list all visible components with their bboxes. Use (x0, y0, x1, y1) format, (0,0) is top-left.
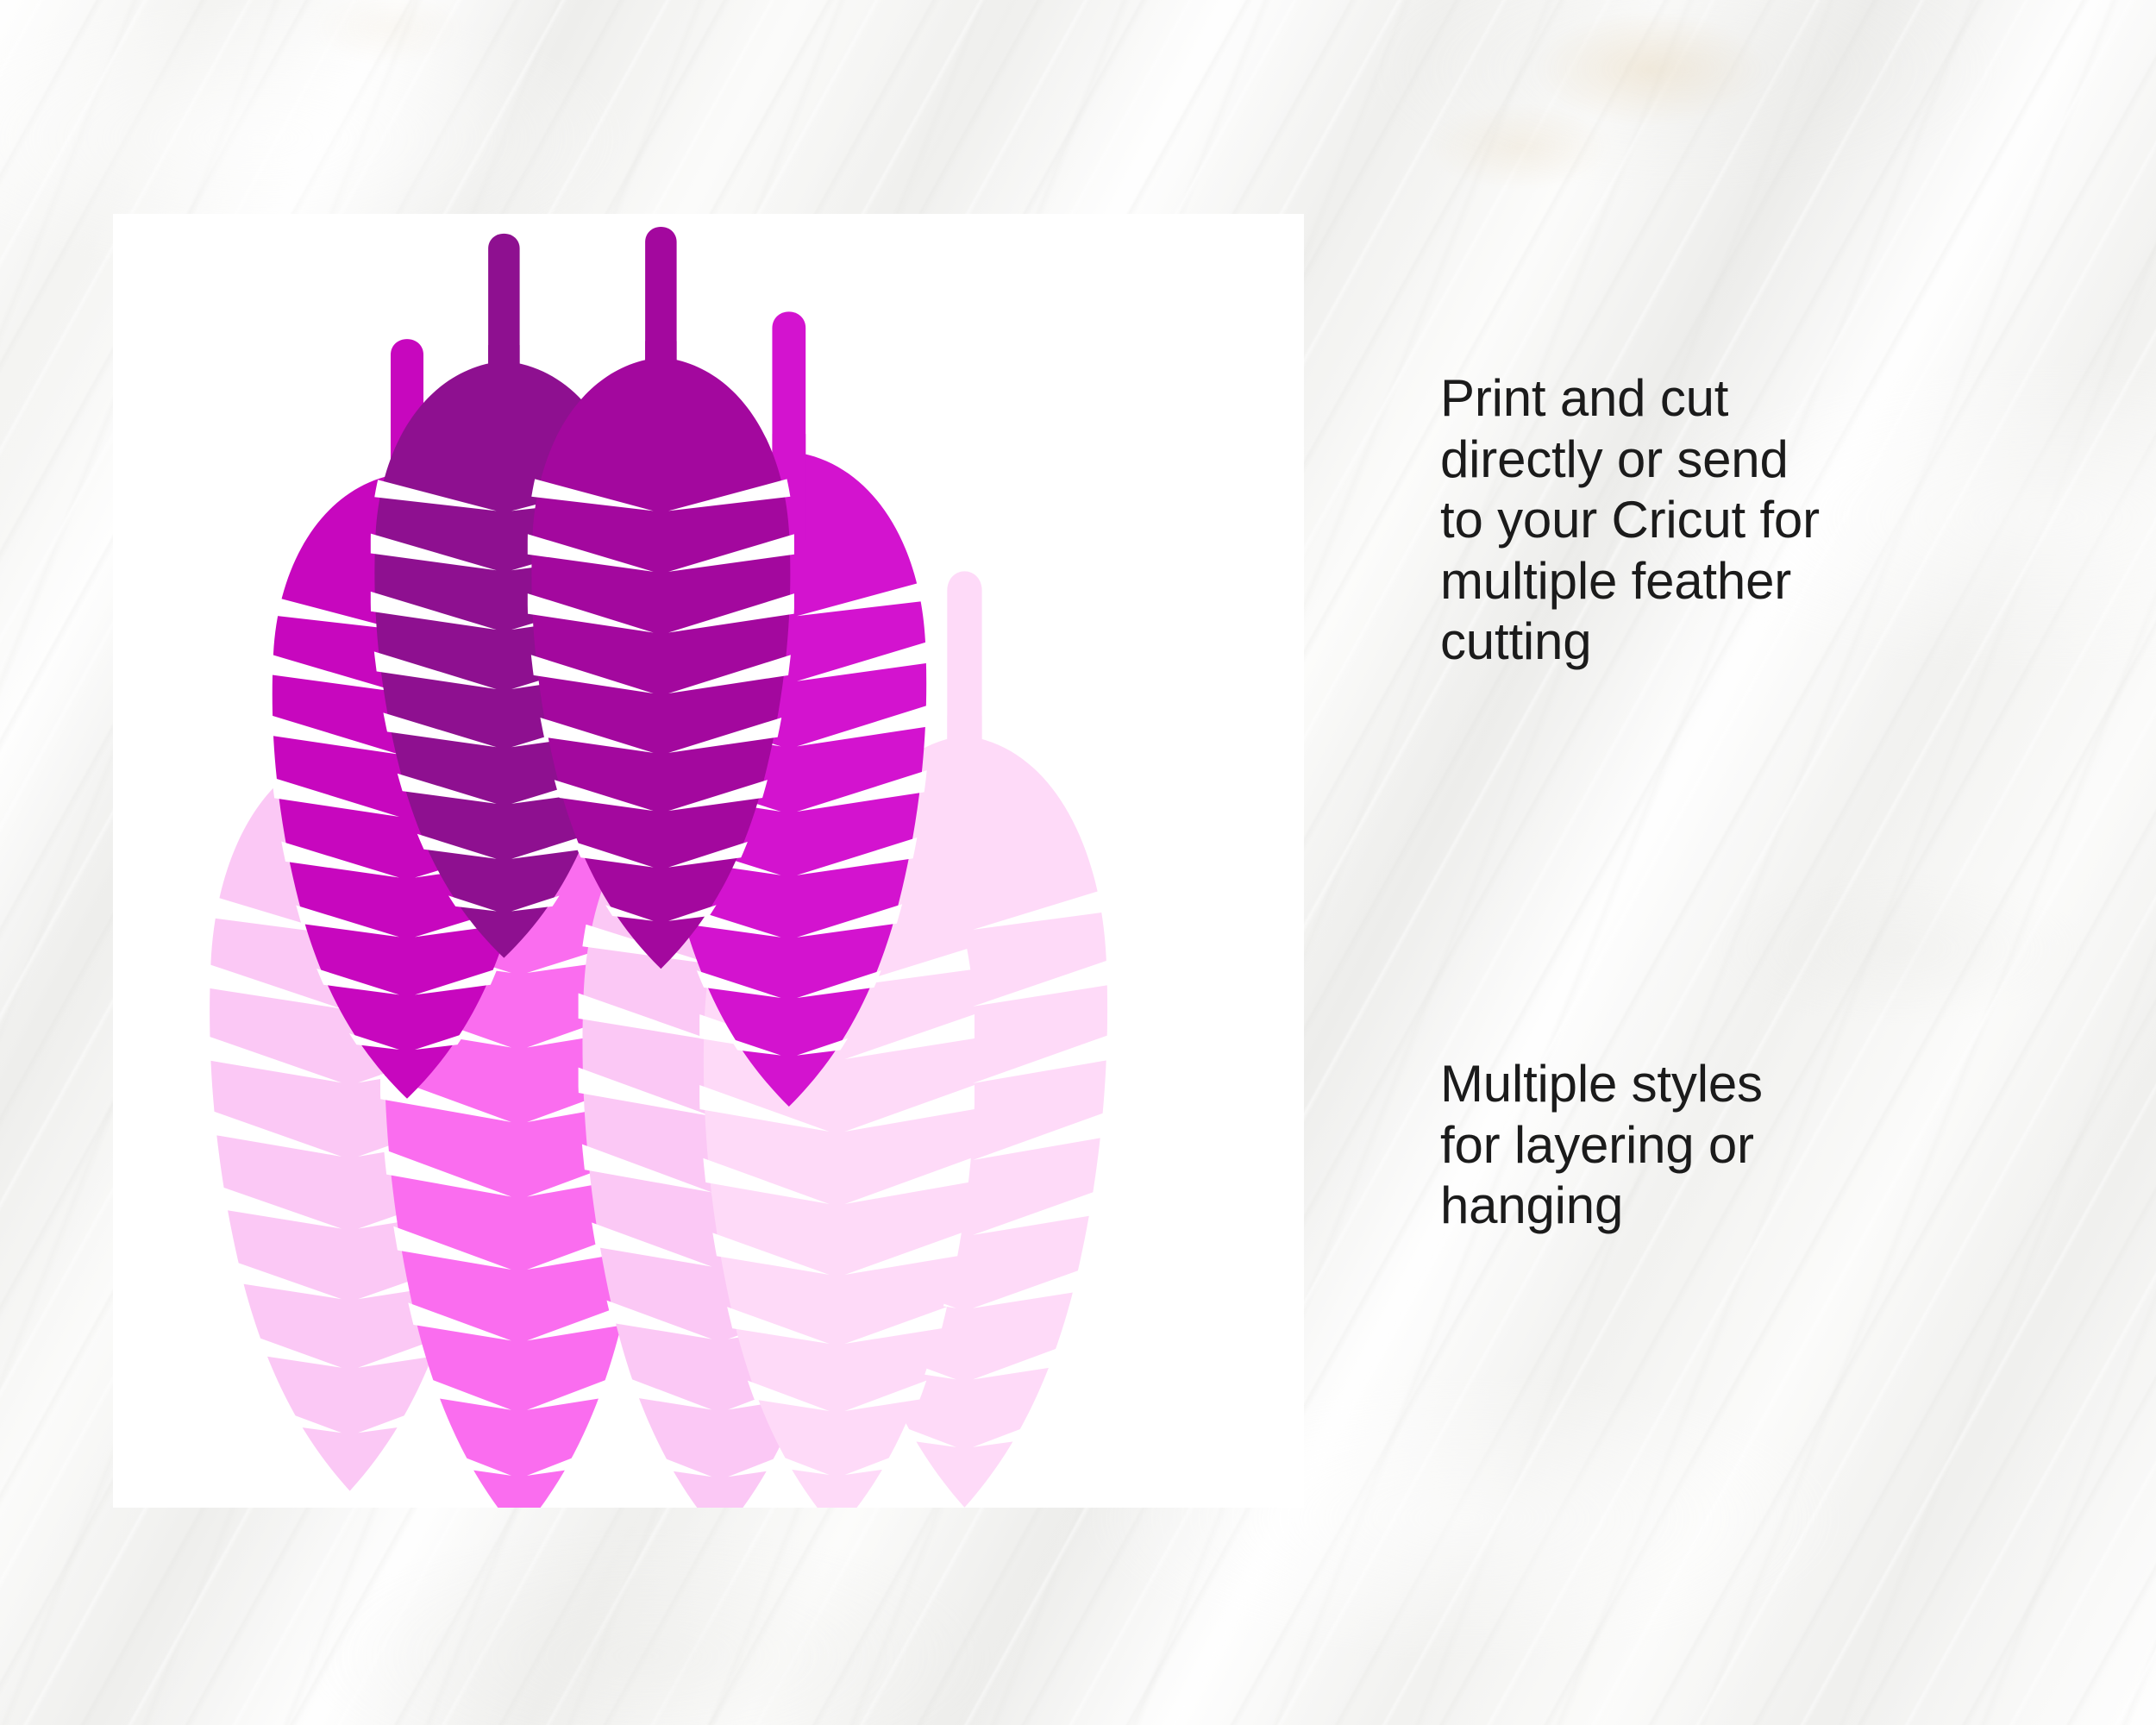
feather-illustration-card (113, 214, 1304, 1508)
feature-text-multiple-styles: Multiple styles for layering or hanging (1440, 1054, 1992, 1237)
product-listing-slide: Print and cut directly or send to your C… (0, 0, 2156, 1725)
feature-text-print-and-cut: Print and cut directly or send to your C… (1440, 368, 1992, 673)
feather-illustration (113, 214, 1304, 1508)
